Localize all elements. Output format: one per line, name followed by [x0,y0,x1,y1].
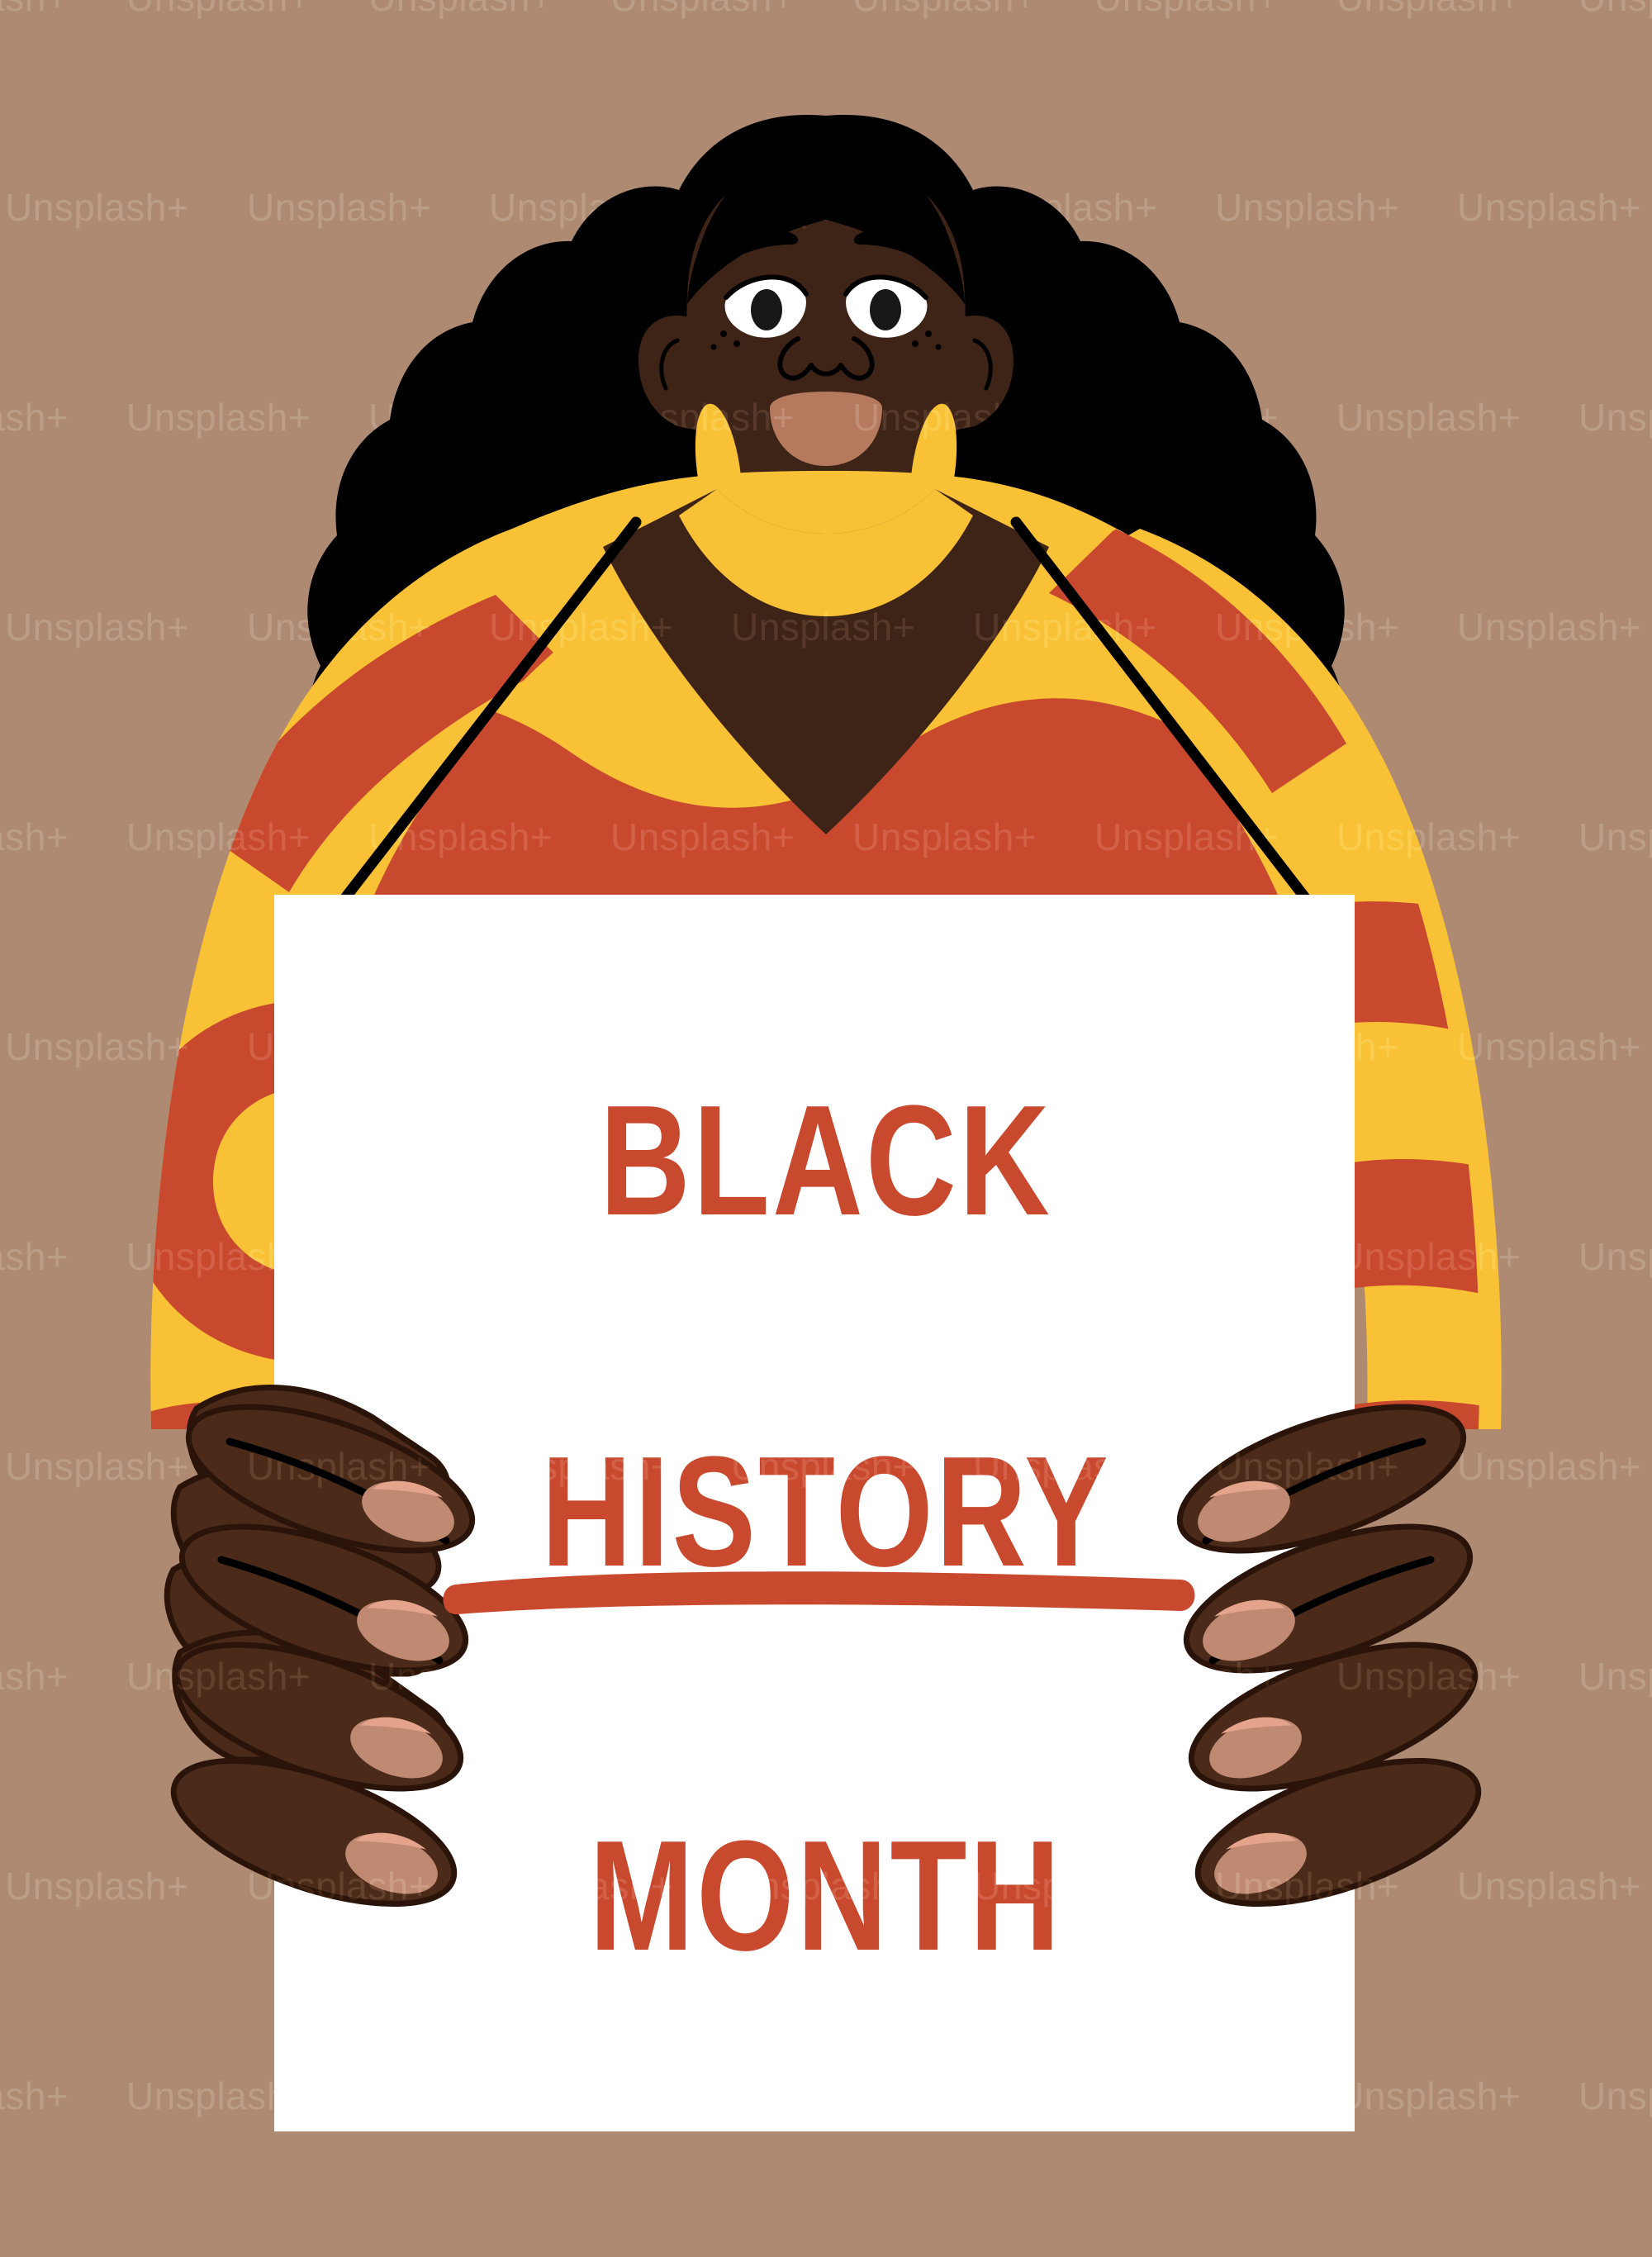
sign-line-history: HISTORY [165,1433,1487,1590]
illustration-canvas: BLACK HISTORY MONTH Unsplash+Unsplash+Un… [0,0,1652,2257]
sign-line-month: MONTH [165,1817,1487,1974]
sign-line-black: BLACK [165,1082,1487,1239]
